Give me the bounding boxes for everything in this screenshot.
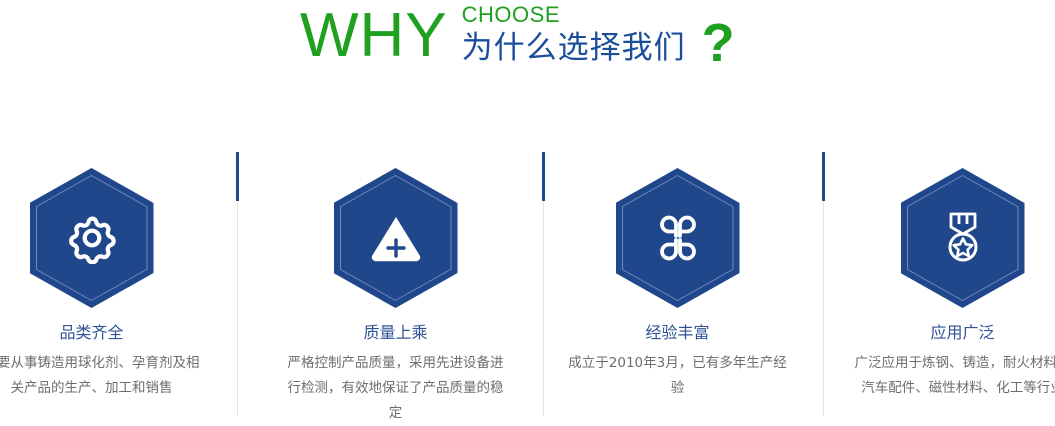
- hexagon-badge: [616, 168, 740, 308]
- hexagon-badge: [334, 168, 458, 308]
- feature-card: 质量上乘 严格控制产品质量，采用先进设备进行检测，有效地保证了产品质量的稳定: [273, 150, 518, 426]
- card-title: 品类齐全: [0, 322, 214, 344]
- heading-stack: CHOOSE 为什么选择我们: [462, 2, 686, 67]
- hexagon-badge: [30, 168, 154, 308]
- heading-inner: WHY CHOOSE 为什么选择我们 ?: [300, 0, 735, 72]
- section-heading: WHY CHOOSE 为什么选择我们 ?: [0, 0, 1055, 95]
- card-description: 成立于2010年3月，已有多年生产经验: [555, 351, 800, 401]
- hexagon-badge: [901, 168, 1025, 308]
- medal-icon: [901, 168, 1025, 308]
- feature-card: 品类齐全 主要从事铸造用球化剂、孕育剂及相关产品的生产、加工和销售: [0, 150, 214, 401]
- card-description: 广泛应用于炼钢、铸造，耐火材料、汽车配件、磁性材料、化工等行业: [840, 351, 1055, 401]
- gear-icon: [30, 168, 154, 308]
- card-title: 应用广泛: [840, 322, 1055, 344]
- heading-question-mark: ?: [702, 14, 735, 72]
- triangle-plus-icon: [334, 168, 458, 308]
- card-title: 质量上乘: [273, 322, 518, 344]
- card-description: 严格控制产品质量，采用先进设备进行检测，有效地保证了产品质量的稳定: [273, 351, 518, 426]
- feature-card: 经验丰富 成立于2010年3月，已有多年生产经验: [555, 150, 800, 401]
- card-description: 主要从事铸造用球化剂、孕育剂及相关产品的生产、加工和销售: [0, 351, 214, 401]
- clover-icon: [616, 168, 740, 308]
- feature-card: 应用广泛 广泛应用于炼钢、铸造，耐火材料、汽车配件、磁性材料、化工等行业: [840, 150, 1055, 401]
- feature-cards: 品类齐全 主要从事铸造用球化剂、孕育剂及相关产品的生产、加工和销售 质量上乘 严…: [0, 150, 1055, 416]
- heading-choose: CHOOSE: [462, 2, 686, 27]
- card-title: 经验丰富: [555, 322, 800, 344]
- heading-why: WHY: [300, 2, 448, 70]
- heading-chinese: 为什么选择我们: [462, 29, 686, 67]
